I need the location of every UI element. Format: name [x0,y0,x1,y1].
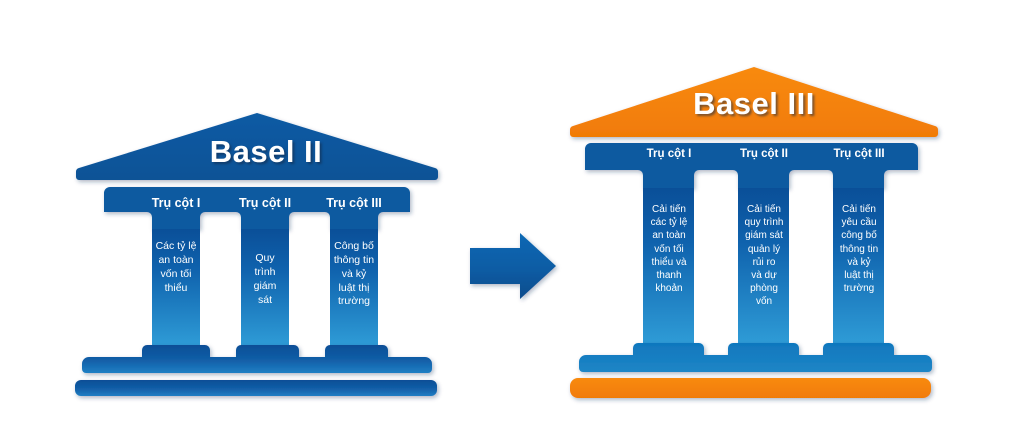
basel-iii-pillar-2-shaft [738,188,789,343]
basel-ii-plinth [82,345,432,373]
basel-iii-temple [570,67,938,398]
basel-ii-base-bar [75,380,437,396]
basel-ii-pillar-3-shaft [330,229,378,345]
basel-ii-pillar-2-shaft [241,229,289,345]
basel-iii-pillar-3-shaft [833,188,884,343]
basel-iii-entablature [585,143,918,188]
basel-ii-temple [75,113,438,396]
basel-ii-pediment [76,113,438,180]
basel-comparison-graphic [0,0,1024,447]
basel-iii-pillar-1-shaft [643,188,694,343]
basel-iii-pediment [570,67,938,137]
basel-iii-base-bar [570,378,931,398]
basel-ii-entablature [104,187,410,229]
basel-ii-pillar-1-shaft [152,229,200,345]
transition-arrow-icon [470,233,556,299]
basel-iii-plinth [579,343,932,372]
diagram-canvas: Basel II Trụ cột I Trụ cột II Trụ cột II… [0,0,1024,447]
